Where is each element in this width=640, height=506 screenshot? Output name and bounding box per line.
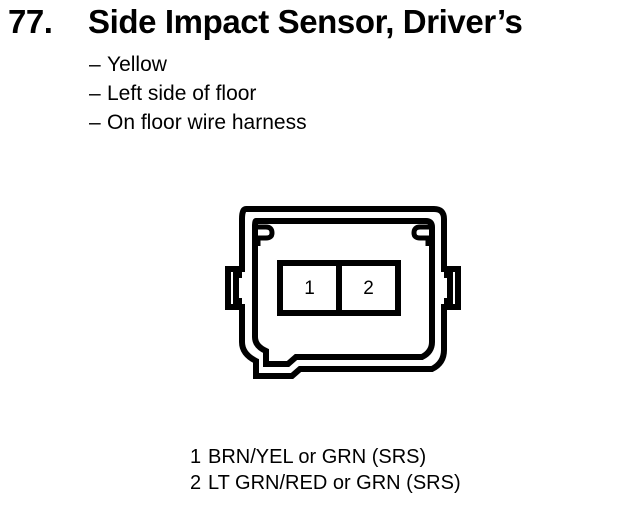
spec-list-item: – Left side of floor	[89, 79, 509, 108]
dash-bullet-icon: –	[89, 50, 107, 79]
pin-legend-row: 2 LT GRN/RED or GRN (SRS)	[190, 470, 530, 496]
pin-legend: 1 BRN/YEL or GRN (SRS) 2 LT GRN/RED or G…	[190, 444, 530, 496]
dash-bullet-icon: –	[89, 108, 107, 137]
dash-bullet-icon: –	[89, 79, 107, 108]
pin-cavity-2-number: 2	[363, 278, 374, 299]
spec-list-item-label: Left side of floor	[107, 79, 256, 108]
connector-side-tab-left	[236, 275, 242, 301]
heading-number: 77.	[8, 2, 52, 42]
pin-legend-description: BRN/YEL or GRN (SRS)	[208, 444, 426, 470]
spec-list-item-label: Yellow	[107, 50, 167, 79]
pin-legend-number: 2	[190, 470, 208, 496]
connector-side-tab-right	[444, 275, 450, 301]
pin-cavity-1-number: 1	[304, 278, 315, 299]
spec-list-item: – On floor wire harness	[89, 108, 509, 137]
spec-list-item: – Yellow	[89, 50, 509, 79]
pin-legend-description: LT GRN/RED or GRN (SRS)	[208, 470, 461, 496]
spec-list: – Yellow – Left side of floor – On floor…	[89, 50, 509, 137]
pin-legend-row: 1 BRN/YEL or GRN (SRS)	[190, 444, 530, 470]
connector-diagram: 1 2	[196, 196, 496, 392]
spec-list-item-label: On floor wire harness	[107, 108, 307, 137]
page-heading: 77. Side Impact Sensor, Driver’s	[0, 0, 640, 46]
pin-legend-number: 1	[190, 444, 208, 470]
page-title: Side Impact Sensor, Driver’s	[88, 2, 523, 42]
connector-outline-drawing: 1 2	[196, 196, 496, 392]
